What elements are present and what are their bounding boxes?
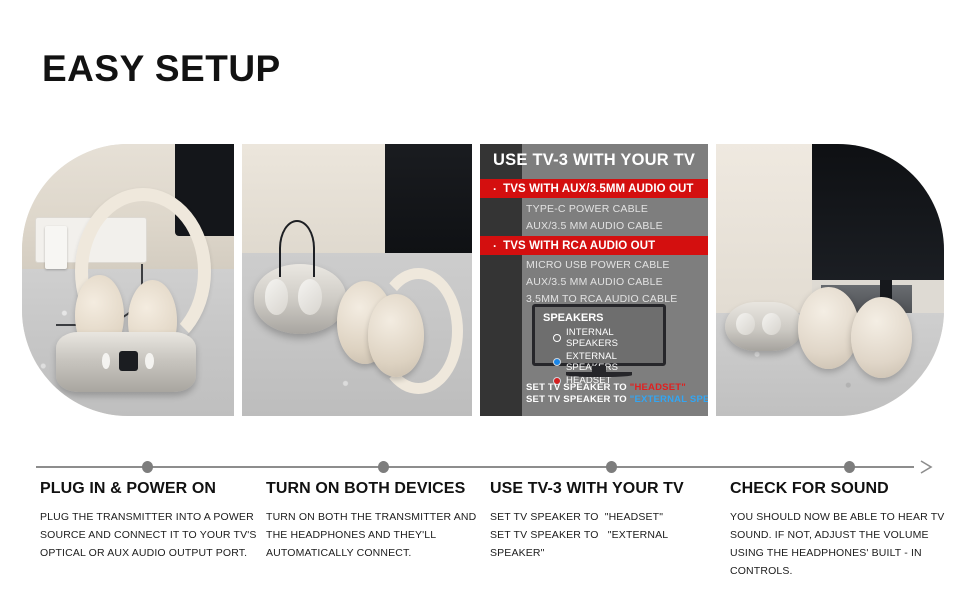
photo-panel-plug-in xyxy=(22,144,234,416)
info-section-heading-rca: · TVS WITH RCA AUDIO OUT xyxy=(480,236,708,255)
set-speaker-value-headset: "HEADSET" xyxy=(630,382,686,393)
timeline-dot-3 xyxy=(606,461,617,473)
photo-dock-cradle-left xyxy=(736,313,755,336)
photo-cable-loop xyxy=(279,220,315,276)
set-speaker-value-external: "EXTERNAL SPEAKER" xyxy=(630,394,708,405)
photo-dock-cradle-right xyxy=(298,279,322,314)
timeline xyxy=(36,460,934,474)
set-speaker-prefix: SET TV SPEAKER TO xyxy=(526,382,630,393)
photo-tv-with-headphones xyxy=(716,144,944,416)
cable-item: AUX/3.5 MM AUDIO CABLE xyxy=(526,220,663,232)
photo-dock-display xyxy=(119,351,139,371)
info-panel-body: USE TV-3 WITH YOUR TV · TVS WITH AUX/3.5… xyxy=(480,144,708,416)
photo-earcup-right xyxy=(368,294,425,377)
photo-power-adapter xyxy=(45,226,66,270)
info-section-heading-aux: · TVS WITH AUX/3.5MM AUDIO OUT xyxy=(480,179,708,198)
photo-panel-check-sound xyxy=(716,144,944,416)
radio-button-selected-icon xyxy=(553,358,561,366)
info-panel-tv-setup: USE TV-3 WITH YOUR TV · TVS WITH AUX/3.5… xyxy=(480,144,708,416)
photo-dock-button-left xyxy=(102,353,110,369)
tv-menu-option-label: INTERNAL SPEAKERS xyxy=(566,327,663,349)
step-body: TURN ON BOTH THE TRANSMITTER AND THE HEA… xyxy=(266,508,488,562)
info-header-prefix: USE xyxy=(480,151,528,170)
step-title: USE TV-3 WITH YOUR TV xyxy=(490,480,724,498)
arrow-right-icon xyxy=(920,460,934,474)
photo-headphones xyxy=(334,275,463,384)
step-title: PLUG IN & POWER ON xyxy=(40,480,268,498)
step-body: SET TV SPEAKER TO "HEADSET" SET TV SPEAK… xyxy=(490,508,724,562)
timeline-dot-2 xyxy=(378,461,389,473)
bullet-icon: · xyxy=(480,240,503,252)
set-speaker-line-headset: SET TV SPEAKER TO "HEADSET" xyxy=(526,382,686,393)
photo-earcup-right xyxy=(851,297,912,378)
info-section-heading-rca-label: TVS WITH RCA AUDIO OUT xyxy=(503,240,655,252)
photo-dock-cradle-left xyxy=(265,279,289,314)
photo-earcup-left xyxy=(798,287,859,368)
info-panel-header: USE TV-3 WITH YOUR TV xyxy=(480,144,708,177)
set-speaker-line-external: SET TV SPEAKER TO "EXTERNAL SPEAKER" xyxy=(526,394,708,405)
page-title: EASY SETUP xyxy=(42,50,281,87)
timeline-dot-1 xyxy=(142,461,153,473)
step-body: YOU SHOULD NOW BE ABLE TO HEAR TV SOUND.… xyxy=(730,508,952,580)
timeline-line xyxy=(36,466,914,468)
step-block-2: TURN ON BOTH DEVICES TURN ON BOTH THE TR… xyxy=(266,480,488,562)
photo-headphones xyxy=(798,285,930,377)
image-strip: USE TV-3 WITH YOUR TV · TVS WITH AUX/3.5… xyxy=(22,144,948,416)
step-body: PLUG THE TRANSMITTER INTO A POWER SOURCE… xyxy=(40,508,268,562)
info-header-rest: TV-3 WITH YOUR TV xyxy=(528,151,696,170)
tv-menu-mockup: SPEAKERS INTERNAL SPEAKERS EXTERNAL SPEA… xyxy=(532,304,666,366)
tv-menu-title: SPEAKERS xyxy=(543,312,663,324)
tv-stand-base xyxy=(566,372,632,377)
step-title: CHECK FOR SOUND xyxy=(730,480,952,498)
photo-dock-cradle-right xyxy=(762,313,781,336)
step-block-3: USE TV-3 WITH YOUR TV SET TV SPEAKER TO … xyxy=(490,480,724,562)
photo-television xyxy=(812,144,944,280)
bullet-icon: · xyxy=(480,183,503,195)
info-section-heading-aux-label: TVS WITH AUX/3.5MM AUDIO OUT xyxy=(503,183,693,195)
cable-item: AUX/3.5 MM AUDIO CABLE xyxy=(526,276,663,288)
photo-headphones-on-dock xyxy=(22,144,234,416)
set-speaker-prefix: SET TV SPEAKER TO xyxy=(526,394,630,405)
photo-transmitter-dock xyxy=(56,332,196,392)
photo-panel-turn-on xyxy=(242,144,472,416)
tv-menu-option-internal[interactable]: INTERNAL SPEAKERS xyxy=(543,327,663,349)
cable-item: TYPE-C POWER CABLE xyxy=(526,203,648,215)
photo-dock-and-headphones xyxy=(242,144,472,416)
tv-menu-option-label: EXTERNAL SPEAKERS xyxy=(566,351,663,373)
photo-transmitter-dock xyxy=(725,302,803,351)
photo-tv-stand-dark xyxy=(385,144,472,253)
cable-item: MICRO USB POWER CABLE xyxy=(526,259,670,271)
step-block-1: PLUG IN & POWER ON PLUG THE TRANSMITTER … xyxy=(40,480,268,562)
radio-button-icon xyxy=(553,334,561,342)
photo-dock-button-right xyxy=(145,353,153,369)
step-block-4: CHECK FOR SOUND YOU SHOULD NOW BE ABLE T… xyxy=(730,480,952,580)
step-title: TURN ON BOTH DEVICES xyxy=(266,480,488,498)
timeline-dot-4 xyxy=(844,461,855,473)
